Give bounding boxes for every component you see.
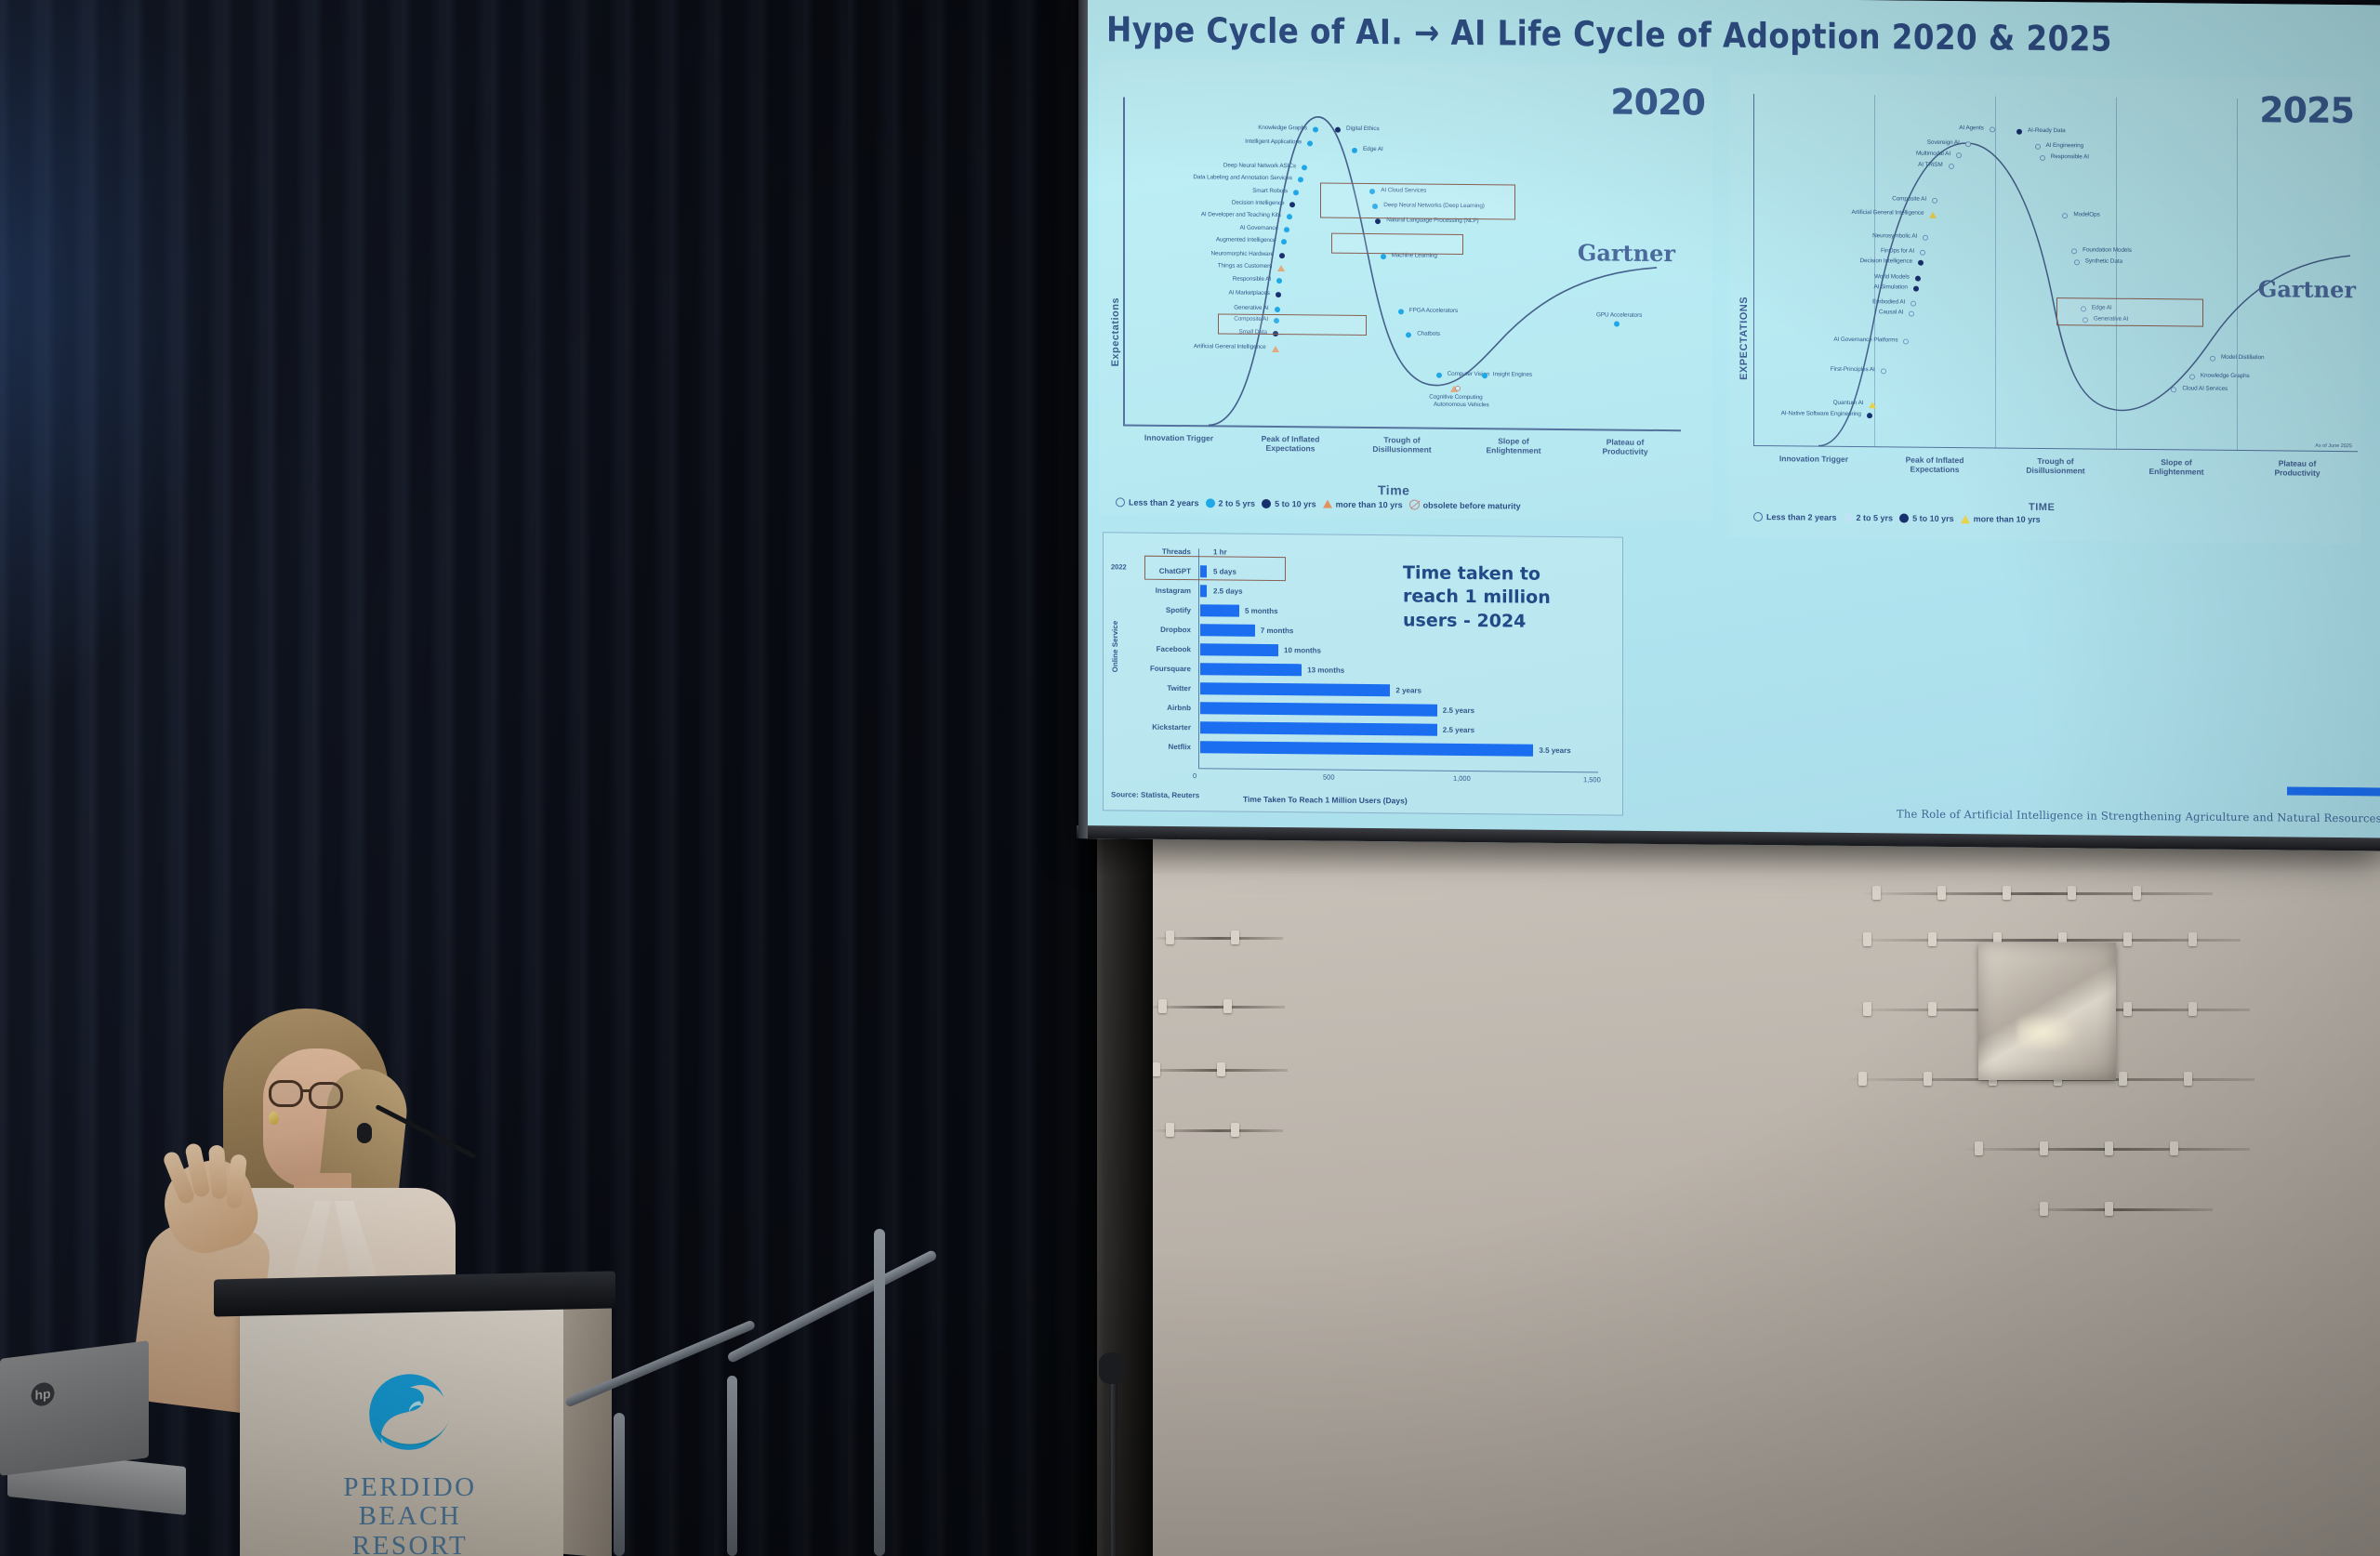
legend-item-2025-1: 2 to 5 yrs <box>1844 513 1894 523</box>
bar-3 <box>1200 604 1239 616</box>
hype-point-2025-24: AI-Native Software Engineering <box>1781 412 1861 419</box>
curtain-blue-glow <box>0 0 214 706</box>
speaker-eyeglass-right <box>309 1082 343 1109</box>
hype-point-2025-3: Multimodal AI <box>1916 151 1950 157</box>
hype-point-2020-10: Augmented Intelligence <box>1216 238 1276 244</box>
legend-item-2020-0: Less than 2 years <box>1116 497 1199 508</box>
legend-marker-ring <box>1116 497 1125 507</box>
slide-surface: Hype Cycle of AI. → AI Life Cycle of Ado… <box>1078 0 2380 851</box>
legend-marker-triangle <box>1323 500 1332 508</box>
bar-value-6: 13 months <box>1307 666 1344 674</box>
hype-point-2020-13: Responsible AI <box>1233 276 1271 283</box>
legend-label: Less than 2 years <box>1766 512 1837 522</box>
hype-cycle-2025-footnote: As of June 2025 <box>2315 443 2352 449</box>
hype-point-2025-16: AI Simulation <box>1874 284 1908 291</box>
bar-6 <box>1200 663 1302 676</box>
legend-marker-circle <box>1262 498 1271 508</box>
data-point-marker <box>1869 402 1876 409</box>
bar-label-5: Facebook <box>1157 645 1191 653</box>
hype-point-2025-6: Responsible AI <box>2051 154 2089 161</box>
legend-label: more than 10 yrs <box>1974 514 2041 524</box>
stage-label-2025-0: Innovation Trigger <box>1771 455 1857 465</box>
hype-point-2025-0: AI Agents <box>1959 125 1983 132</box>
slide-accent-bar <box>2287 786 2380 796</box>
wall-art-rod-8 <box>1139 1069 1288 1072</box>
hype-point-2020-11: Neuromorphic Hardware <box>1210 251 1274 257</box>
bar-label-8: Airbnb <box>1167 704 1191 712</box>
bar-label-0: Threads <box>1162 547 1191 556</box>
wall-mirror-glint <box>2017 1013 2079 1052</box>
hype-point-2020-15: Generative AI <box>1234 306 1268 312</box>
speaker-eyeglass-bridge <box>302 1089 311 1092</box>
legend-item-2020-1: 2 to 5 yrs <box>1206 498 1256 508</box>
data-point-marker <box>1911 300 1916 306</box>
data-point-marker <box>2035 144 2041 150</box>
hype-point-2020-28: Insight Engines <box>1493 373 1532 379</box>
stair-railing-post-right <box>874 1229 885 1556</box>
hype-point-2020-9: AI Governance <box>1239 225 1277 231</box>
wall-art-clip <box>1231 1123 1239 1137</box>
bar-value-10: 3.5 years <box>1539 746 1570 755</box>
x-tick-3: 1,500 <box>1583 775 1601 784</box>
highlight-box-cloud-dnn-nlp <box>1320 182 1515 219</box>
hype-point-2025-27: Cloud AI Services <box>2182 386 2228 392</box>
slide-title: Hype Cycle of AI. → AI Life Cycle of Ado… <box>1106 9 2112 59</box>
wall-art-clip <box>2188 1002 2197 1016</box>
bar-chart-ylabel: Online Service <box>1111 621 1119 673</box>
hype-point-2020-2: Digital Ethics <box>1346 126 1380 133</box>
wall-art-clip <box>2188 932 2197 946</box>
podium-microphone-head <box>357 1123 372 1143</box>
podium-logo-line3: RESORT <box>340 1532 480 1556</box>
wall-art-rod-5 <box>2027 1208 2213 1211</box>
stage-label-2020-2: Trough of Disillusionment <box>1359 436 1445 455</box>
wall-art-clip <box>2123 932 2132 946</box>
laptop-lid <box>0 1340 149 1476</box>
bar-label-2: Instagram <box>1156 587 1191 595</box>
hype-point-2025-12: Decision Intelligence <box>1860 258 1913 265</box>
wall-art-clip <box>2040 1202 2048 1216</box>
data-point-marker <box>1352 147 1357 152</box>
legend-label: more than 10 yrs <box>1336 499 1403 509</box>
data-point-marker <box>1436 372 1442 377</box>
hype-point-2025-11: FinOps for AI <box>1881 249 1914 256</box>
stair-railing-post-far-left <box>614 1413 625 1556</box>
hype-point-2025-9: ModelOps <box>2073 212 2099 218</box>
legend-item-2025-2: 5 to 10 yrs <box>1899 513 1954 523</box>
bar-9 <box>1200 721 1437 735</box>
data-point-marker <box>1881 368 1886 374</box>
wall-art-clip <box>2170 1141 2178 1155</box>
data-point-marker <box>1918 260 1924 266</box>
data-point-marker <box>1929 212 1937 218</box>
hype-point-2025-21: AI Governance Platforms <box>1833 336 1897 343</box>
hype-cycle-2025-chart: 2025 Gartner EXPECTATIONS TIME AI Agents… <box>1729 73 2361 545</box>
x-tick-0: 0 <box>1193 771 1197 780</box>
legend-marker-circle <box>1844 513 1853 522</box>
podium-side-panel <box>563 1299 612 1556</box>
speaker-earring <box>269 1112 279 1125</box>
data-point-marker <box>1277 265 1285 271</box>
bar-8 <box>1200 702 1437 716</box>
podium-logo-line2: BEACH <box>340 1502 480 1531</box>
bar-value-5: 10 months <box>1284 646 1321 654</box>
bar-value-4: 7 months <box>1261 626 1294 635</box>
bar-2 <box>1200 585 1207 597</box>
legend-item-2025-3: more than 10 yrs <box>1961 514 2041 524</box>
stage-label-2025-2: Trough of Disillusionment <box>2013 457 2098 476</box>
bar-chart-y-axis <box>1198 548 1199 768</box>
legend-marker-ring <box>1753 512 1763 521</box>
wall-art-clip <box>1152 1062 1160 1076</box>
x-tick-1: 500 <box>1323 773 1335 782</box>
hype-point-2020-24: Chatbots <box>1417 331 1440 337</box>
bar-7 <box>1200 682 1390 696</box>
stage-label-2020-0: Innovation Trigger <box>1136 434 1222 444</box>
hype-point-2025-18: Causal AI <box>1879 310 1903 316</box>
data-point-marker <box>1913 286 1919 292</box>
bar-value-2: 2.5 days <box>1213 587 1243 595</box>
wall-art-clip <box>1863 1002 1871 1016</box>
wall-art-clip <box>1928 1002 1937 1016</box>
bar-chart-xlabel: Time Taken To Reach 1 Million Users (Day… <box>1243 795 1408 806</box>
highlight-box-machine-learning <box>1331 233 1463 255</box>
bar-label-7: Twitter <box>1167 684 1191 692</box>
back-wall <box>1078 818 2380 1556</box>
bar-chart-x-axis <box>1198 768 1598 772</box>
x-tick-2: 1,000 <box>1453 774 1471 783</box>
hype-point-2025-2: Sovereign AI <box>1927 140 1960 147</box>
bar-5 <box>1200 643 1278 656</box>
wall-art-clip <box>1166 1123 1174 1137</box>
data-point-marker <box>2189 375 2195 380</box>
wall-art-clip <box>1928 932 1937 946</box>
bar-value-7: 2 years <box>1395 686 1421 694</box>
bar-label-4: Dropbox <box>1160 626 1191 634</box>
wall-art-rod-1 <box>1850 939 2241 942</box>
slide-footer: The Role of Artificial Intelligence in S… <box>1897 807 2380 824</box>
wall-art-clip <box>2040 1141 2048 1155</box>
projection-screen: Hype Cycle of AI. → AI Life Cycle of Ado… <box>1078 0 2380 851</box>
legend-marker-crossed-circle <box>1409 499 1420 509</box>
hype-point-2025-10: Neurosymbolic AI <box>1872 233 1917 240</box>
screen-left-frame <box>1078 0 1088 838</box>
bar-label-6: Foursquare <box>1150 665 1191 673</box>
wall-art-clip <box>1166 930 1174 944</box>
hype-point-2025-7: Composite AI <box>1892 197 1926 204</box>
stair-railing-post-left <box>727 1376 737 1556</box>
bar-value-0: 1 hr <box>1213 547 1227 556</box>
data-point-marker <box>2016 128 2022 134</box>
wall-art-clip <box>2123 1002 2132 1016</box>
floor-microphone-stand <box>1111 1366 1117 1556</box>
podium-logo: PERDIDO BEACH RESORT <box>340 1366 480 1556</box>
hype-cycle-2020-chart: 2020 Gartner Expectations Time Knowledge… <box>1099 59 1712 521</box>
wave-icon <box>360 1366 460 1463</box>
legend-label: 2 to 5 yrs <box>1857 513 1894 522</box>
data-point-marker <box>2210 355 2215 361</box>
highlight-box-generative-ai-2020 <box>1218 313 1367 336</box>
wall-art-clip <box>1872 886 1881 900</box>
hype-point-2020-0: Knowledge Graphs <box>1258 125 1307 132</box>
slide-footer-title: The Role of Artificial Intelligence in S… <box>1897 807 2380 824</box>
wall-art-clip <box>1975 1141 1983 1155</box>
legend-marker-circle <box>1206 498 1215 508</box>
wall-art-clip <box>2119 1072 2127 1086</box>
legend-item-2020-4: obsolete before maturity <box>1409 499 1521 510</box>
wall-art-clip <box>1937 886 1946 900</box>
bar-value-8: 2.5 years <box>1443 706 1474 715</box>
hype-point-2025-15: World Models <box>1874 275 1910 282</box>
wall-art-clip <box>1223 999 1232 1013</box>
legend-marker-circle <box>1899 513 1909 522</box>
wall-art-clip <box>2068 886 2076 900</box>
podium-logo-line1: PERDIDO <box>340 1473 480 1502</box>
hype-point-2025-26: Knowledge Graphs <box>2201 374 2250 380</box>
stage-label-2025-3: Slope of Enlightenment <box>2134 458 2219 477</box>
legend-marker-triangle <box>1961 515 1970 523</box>
bar-label-10: Netflix <box>1169 743 1191 751</box>
hype-point-2025-14: Synthetic Data <box>2085 259 2122 266</box>
data-point-marker <box>1276 292 1281 297</box>
hype-point-2025-25: Model Distillation <box>2221 355 2265 362</box>
data-point-marker <box>1307 140 1313 146</box>
data-point-marker <box>1398 309 1404 314</box>
wall-art-clip <box>1858 1072 1867 1086</box>
stage-label-2020-4: Plateau of Productivity <box>1582 438 1668 456</box>
data-point-marker <box>1949 164 1954 169</box>
wall-art-clip <box>2133 886 2141 900</box>
bar-label-3: Spotify <box>1166 606 1191 614</box>
data-point-marker <box>1284 227 1289 232</box>
highlight-box-chatgpt <box>1144 556 1286 581</box>
bar-chart-title: Time taken to reach 1 million users - 20… <box>1403 561 1580 634</box>
hype-point-2020-27: Autonomous Vehicles <box>1434 402 1489 409</box>
wall-art-clip <box>2184 1072 2192 1086</box>
wall-art-clip <box>1158 999 1167 1013</box>
wall-art-clip <box>1231 930 1239 944</box>
data-point-marker <box>1965 141 1971 147</box>
hype-point-2020-7: Decision Intelligence <box>1232 201 1285 207</box>
wall-art-rod-0 <box>1859 892 2213 895</box>
data-point-marker <box>1293 190 1299 195</box>
data-point-marker <box>1275 307 1280 312</box>
wall-art-clip <box>1863 932 1871 946</box>
data-point-marker <box>1272 346 1279 352</box>
legend-item-2020-2: 5 to 10 yrs <box>1262 498 1316 508</box>
time-to-one-million-users-chart: Time taken to reach 1 million users - 20… <box>1103 532 1623 815</box>
hype-point-2020-18: Artificial General Intelligence <box>1194 344 1266 350</box>
legend-item-2020-3: more than 10 yrs <box>1323 499 1403 509</box>
data-point-marker <box>1923 234 1928 240</box>
bar-10 <box>1200 741 1533 756</box>
hype-point-2020-23: FPGA Accelerators <box>1409 309 1458 315</box>
hype-point-2025-8: Artificial General Intelligence <box>1852 210 1924 217</box>
data-point-marker <box>1406 332 1411 337</box>
hype-point-2020-4: Deep Neural Network ASICs <box>1223 163 1296 169</box>
bar-chart-rows: Threads1 hrChatGPT5 daysInstagram2.5 day… <box>1104 533 1622 537</box>
wall-art-clip <box>2105 1202 2113 1216</box>
stage-label-2020-3: Slope of Enlightenment <box>1471 437 1556 455</box>
data-point-marker <box>1956 152 1962 158</box>
wall-art-clip <box>1924 1072 1932 1086</box>
hype-point-2025-5: AI Engineering <box>2046 143 2084 150</box>
stage-label-2025-4: Plateau of Productivity <box>2254 459 2340 478</box>
bar-4 <box>1200 624 1255 637</box>
legend-label: 2 to 5 yrs <box>1219 498 1256 508</box>
wall-mirror <box>1978 943 2116 1080</box>
data-point-marker <box>1302 165 1307 170</box>
hype-point-2020-14: AI Marketplaces <box>1228 291 1269 297</box>
hype-point-2020-3: Edge AI <box>1363 146 1383 152</box>
hype-point-2025-4: AI TRiSM <box>1918 162 1942 168</box>
legend-label: Less than 2 years <box>1129 497 1199 508</box>
hype-point-2025-1: AI-Ready Data <box>2028 128 2066 135</box>
bar-chart-x-ticks: 05001,0001,500 <box>1104 533 1622 537</box>
hype-point-2020-6: Smart Robots <box>1252 188 1288 194</box>
hype-point-2025-13: Foundation Models <box>2082 248 2132 255</box>
conference-photo: Hype Cycle of AI. → AI Life Cycle of Ado… <box>0 0 2380 1556</box>
hype-point-2020-12: Things as Customers <box>1218 264 1272 270</box>
legend-label: 5 to 10 yrs <box>1912 514 1954 523</box>
highlight-box-generative-ai-2025 <box>2056 297 2203 327</box>
wall-art-clip <box>2003 886 2011 900</box>
floor-microphone-head <box>1099 1352 1125 1384</box>
hype-point-2025-23: Quantum AI <box>1833 401 1864 407</box>
hype-point-2025-22: First-Principles AI <box>1831 367 1875 374</box>
stage-label-2025-1: Peak of Inflated Expectations <box>1892 455 1977 474</box>
hype-point-2020-1: Intelligent Applications <box>1245 138 1302 145</box>
data-point-marker <box>1279 253 1285 258</box>
bar-label-9: Kickstarter <box>1152 723 1191 732</box>
hype-point-2025-17: Embodied AI <box>1872 299 1905 306</box>
data-point-marker <box>1381 254 1386 259</box>
legend-item-2025-0: Less than 2 years <box>1753 512 1837 522</box>
wall-art-clip <box>1217 1062 1225 1076</box>
bar-chart-source: Source: Statista, Reuters <box>1111 790 1199 799</box>
bar-value-9: 2.5 years <box>1443 726 1474 734</box>
hype-point-2020-5: Data Labeling and Annotation Services <box>1193 175 1291 182</box>
legend-label: 5 to 10 yrs <box>1275 499 1316 508</box>
bar-chart-annotation-2022: 2022 <box>1111 562 1127 571</box>
speaker-eyeglass-left <box>269 1080 303 1107</box>
wall-art-clip <box>2105 1141 2113 1155</box>
legend-label: obsolete before maturity <box>1423 500 1521 510</box>
bar-value-3: 5 months <box>1245 607 1278 615</box>
data-point-marker <box>1990 126 1995 132</box>
data-point-marker <box>2040 155 2045 161</box>
hype-point-2020-29: GPU Accelerators <box>1596 313 1642 320</box>
stage-label-2020-1: Peak of Inflated Expectations <box>1248 435 1333 454</box>
data-point-marker <box>1276 278 1282 284</box>
hype-point-2020-8: AI Developer and Teaching Kits <box>1201 213 1281 220</box>
